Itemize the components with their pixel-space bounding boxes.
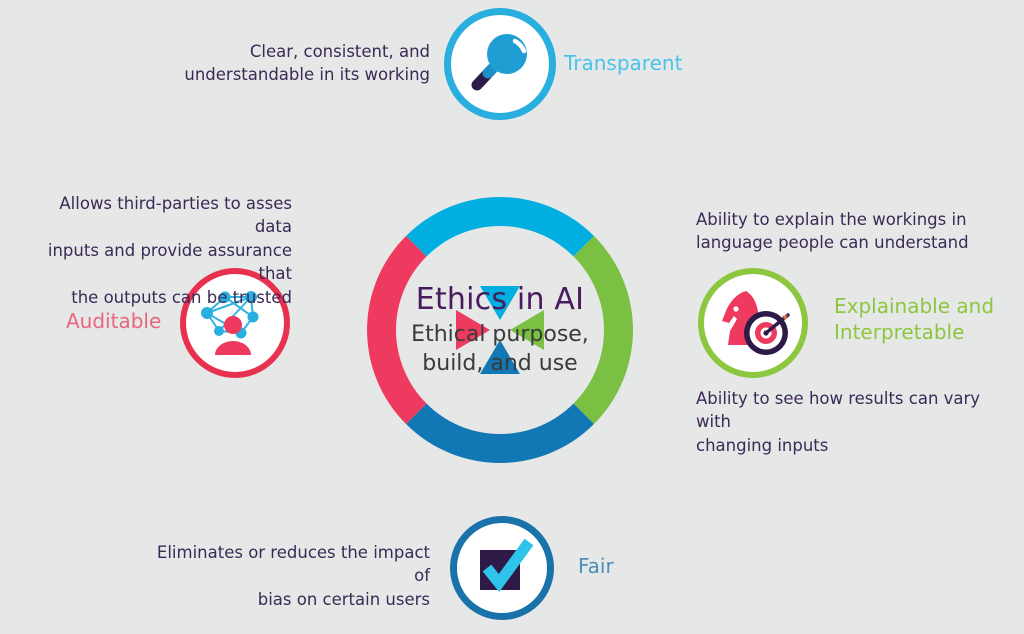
fair-label: Fair [578,553,614,579]
auditable-label: Auditable [66,308,161,334]
ring-segments [367,197,633,463]
auditable-description: Allows third-parties to asses data input… [20,192,292,309]
transparent-label: Transparent [564,50,682,76]
explainable-description: Ability to explain the workings in langu… [696,208,1006,255]
transparent-description: Clear, consistent, and understandable in… [150,40,430,87]
ethics-pillar-ring [330,160,670,500]
fair-icon-bubble[interactable] [450,516,554,620]
transparent-icon-bubble[interactable] [444,8,556,120]
checkbox-check-icon [467,533,537,603]
infographic-canvas: Ethics in AI Ethical purpose, build, and… [0,0,1024,634]
fair-description: Eliminates or reduces the impact of bias… [140,541,430,611]
magnifier-icon [461,25,539,103]
explainable-description-secondary: Ability to see how results can vary with… [696,387,1012,457]
explainable-label: Explainable and Interpretable [834,293,994,346]
explainable-icon-bubble[interactable] [698,268,808,378]
knight-target-icon [712,283,794,363]
